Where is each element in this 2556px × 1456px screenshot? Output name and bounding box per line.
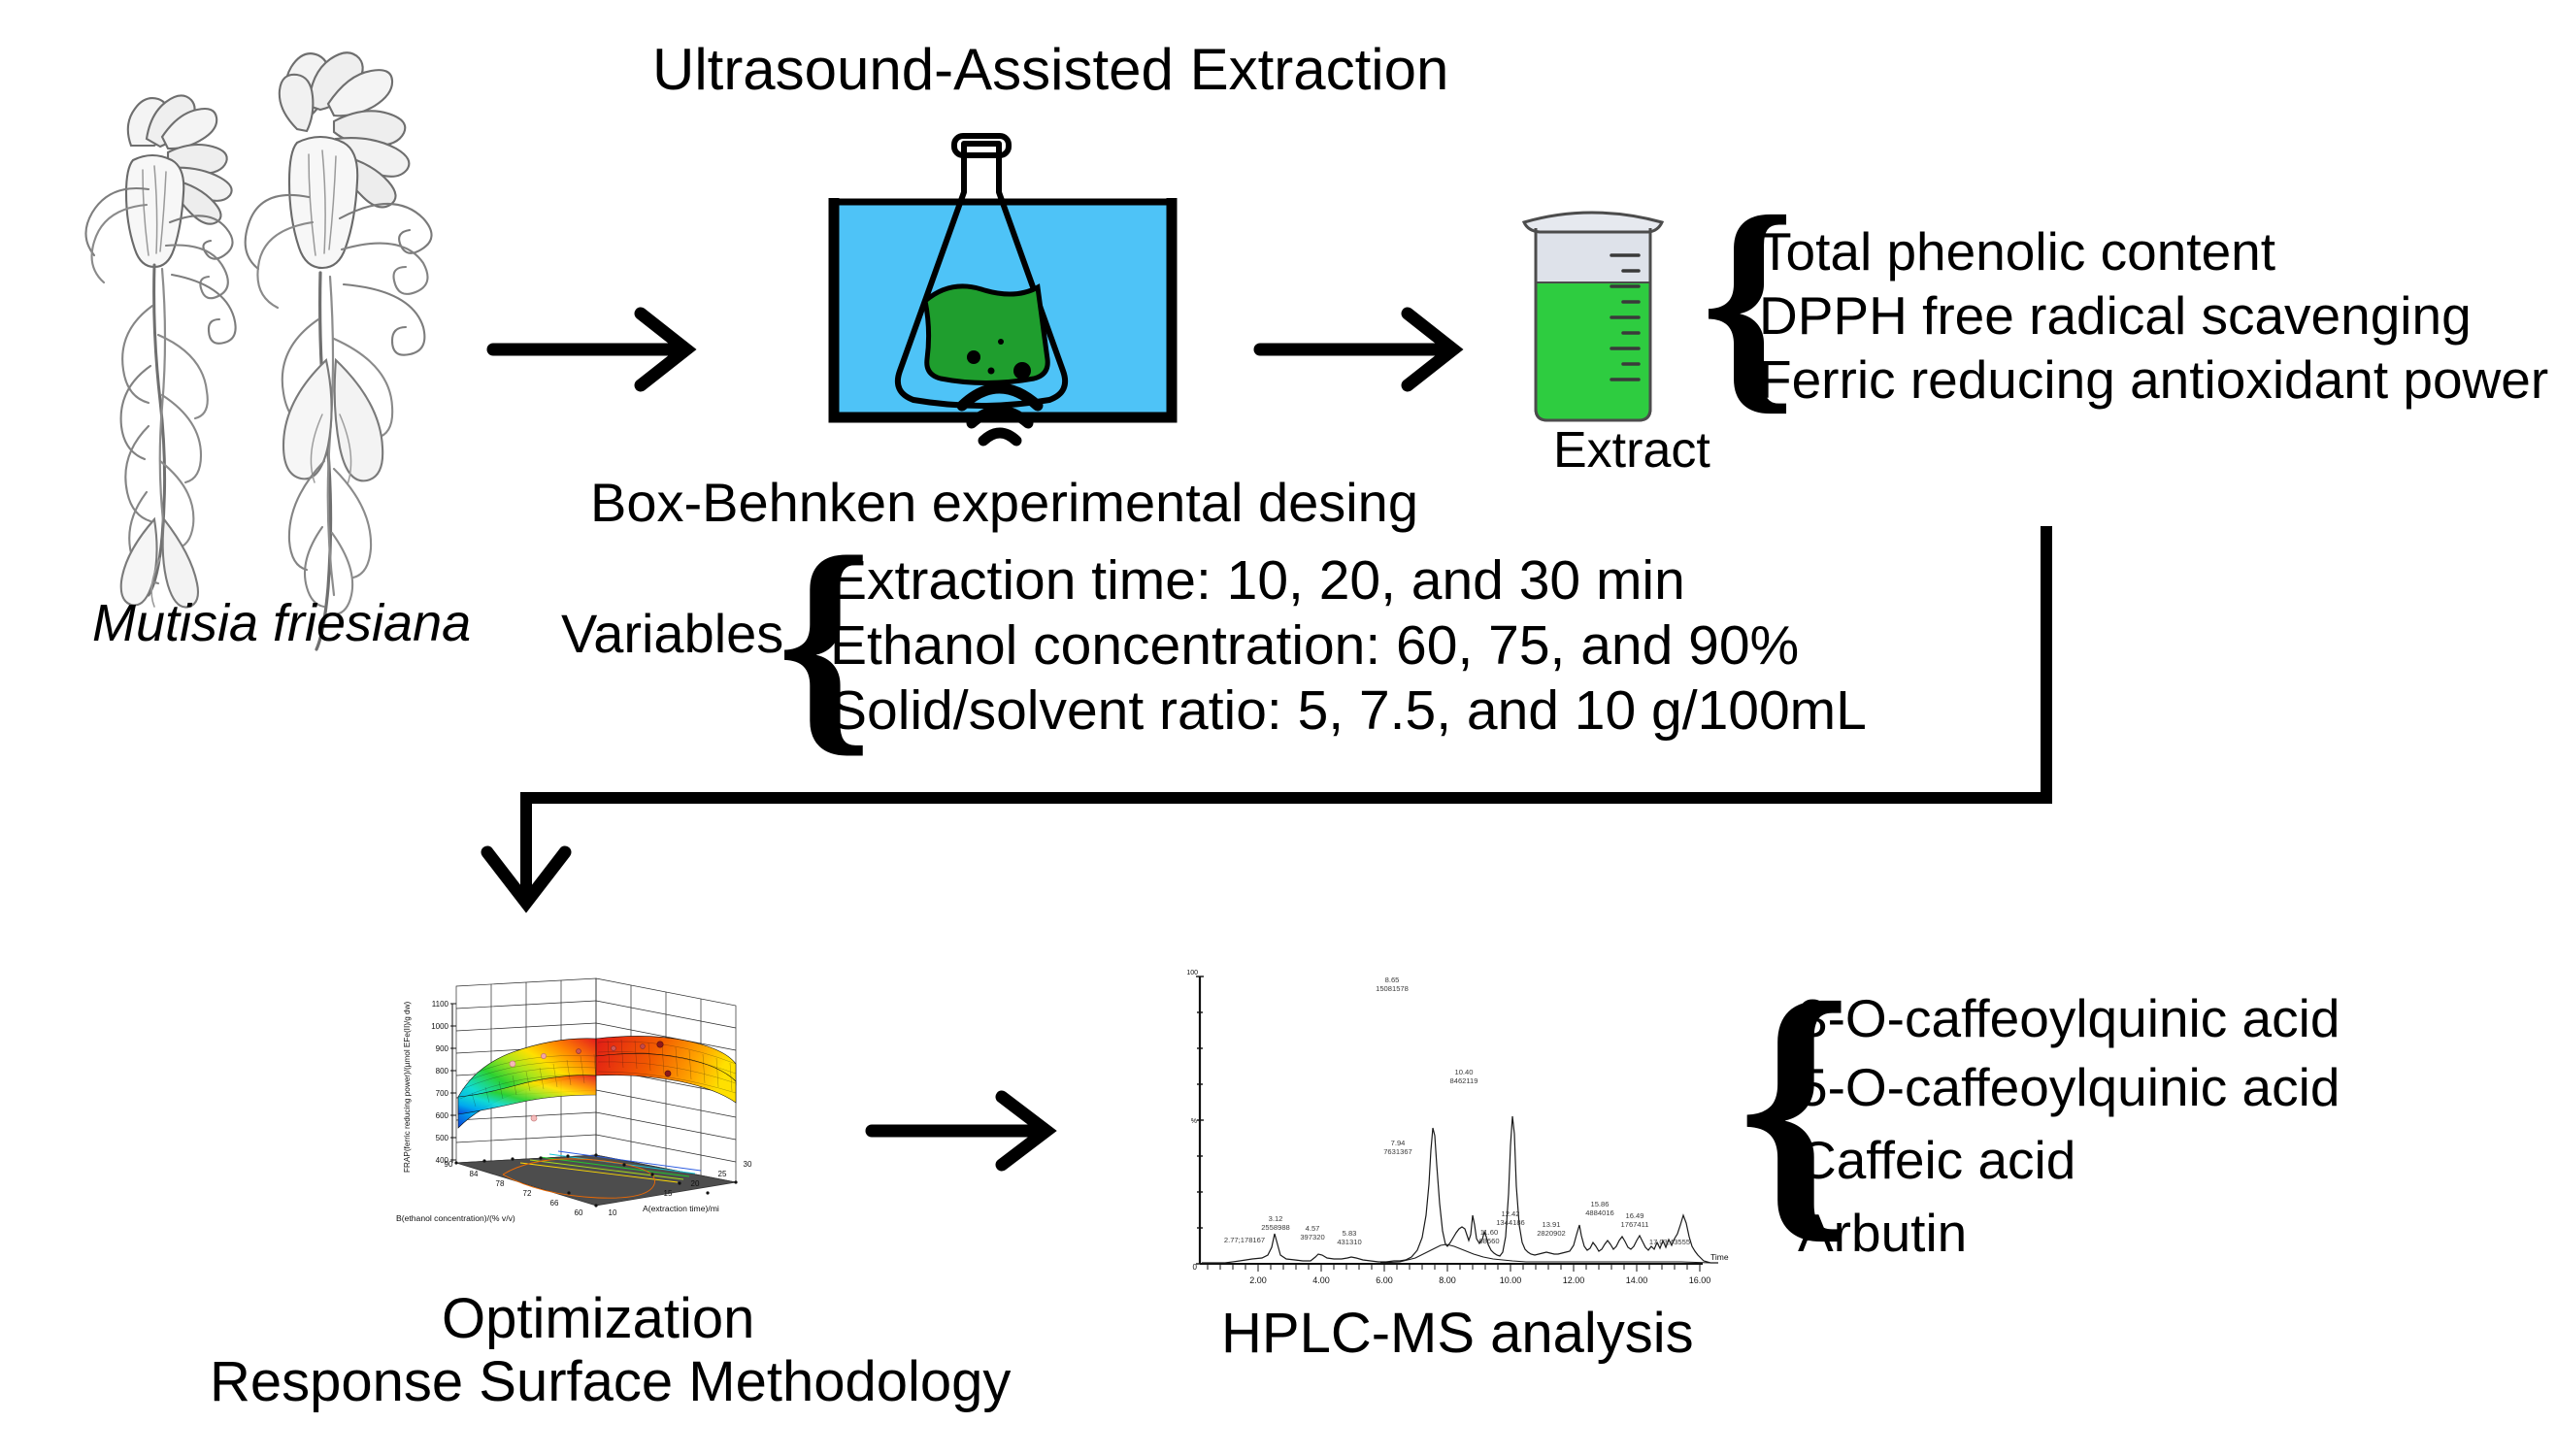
surface-xlabel-text: A(extraction time)/mi [643,1204,719,1213]
svg-text:30: 30 [744,1160,752,1169]
surface-zlabel-text: FRAP(ferric reducing power)/(µmol EFe(II… [403,1001,412,1173]
svg-text:2820902: 2820902 [1537,1229,1566,1238]
hplc-chromatogram-plot: 100 % 0 [1186,961,1730,1301]
svg-text:1100: 1100 [432,1000,449,1009]
svg-text:16.00: 16.00 [1689,1275,1711,1285]
svg-text:%: % [1191,1118,1197,1125]
svg-text:78: 78 [496,1179,505,1188]
svg-text:84: 84 [470,1170,479,1178]
svg-text:66: 66 [550,1199,559,1208]
svg-text:900: 900 [436,1044,449,1053]
arrow-plant-to-extraction [485,296,709,403]
flow-connector-elbow [505,514,2077,932]
compound-item: 3-O-caffeoylquinic acid [1798,992,2340,1045]
svg-text:800: 800 [436,1067,449,1075]
svg-text:4.00: 4.00 [1312,1275,1330,1285]
svg-text:10.40: 10.40 [1454,1068,1473,1076]
svg-text:72: 72 [523,1189,532,1198]
svg-text:8462119: 8462119 [1450,1076,1478,1085]
svg-text:0: 0 [1193,1263,1198,1272]
svg-text:1344186: 1344186 [1496,1218,1525,1227]
hplc-caption: HPLC-MS analysis [1221,1306,1694,1362]
species-name: Mutisia friesiana [92,597,471,649]
svg-text:15081578: 15081578 [1376,984,1409,993]
assay-item: Total phenolic content [1759,225,2548,279]
compounds-list: 3-O-caffeoylquinic acid 5-O-caffeoylquin… [1798,992,2340,1260]
svg-text:7631367: 7631367 [1383,1147,1412,1156]
plant-illustration [39,15,476,597]
response-surface-plot: 1100 1000 900 800 700 600 500 400 [388,961,796,1301]
svg-text:20: 20 [691,1179,700,1188]
compound-item: Caffeic acid [1798,1134,2340,1187]
graphical-abstract: Mutisia friesiana Ultrasound-Assisted Ex… [0,0,2556,1456]
svg-text:397320: 397320 [1300,1233,1324,1241]
svg-text:68660: 68660 [1478,1237,1499,1245]
svg-text:Time: Time [1710,1252,1729,1262]
svg-text:11.60: 11.60 [1480,1228,1498,1237]
svg-text:2558988: 2558988 [1261,1223,1290,1232]
svg-text:4.57: 4.57 [1306,1224,1320,1233]
ultrasonic-bath-icon [820,126,1228,476]
svg-text:12.42: 12.42 [1501,1209,1519,1218]
svg-text:8.65: 8.65 [1385,976,1400,984]
compound-item: 5-O-caffeoylquinic acid [1798,1061,2340,1114]
extract-label: Extract [1553,425,1710,476]
svg-text:700: 700 [436,1089,449,1098]
optimization-caption-line2: Response Surface Methodology [210,1354,1011,1410]
svg-text:15.86: 15.86 [1590,1200,1609,1208]
svg-text:10.00: 10.00 [1500,1275,1522,1285]
svg-text:7.94: 7.94 [1391,1139,1406,1147]
svg-text:17.03;43555: 17.03;43555 [1649,1238,1690,1246]
svg-text:15: 15 [664,1189,673,1198]
svg-text:8.00: 8.00 [1439,1275,1456,1285]
extract-beaker-icon [1514,199,1689,432]
svg-text:10: 10 [609,1208,617,1217]
svg-text:5.83: 5.83 [1343,1229,1357,1238]
svg-text:6.00: 6.00 [1376,1275,1393,1285]
svg-text:1000: 1000 [431,1022,448,1031]
svg-text:2.00: 2.00 [1249,1275,1267,1285]
svg-text:13.91: 13.91 [1542,1220,1560,1229]
svg-text:3.12: 3.12 [1269,1214,1283,1223]
svg-text:60: 60 [575,1208,583,1217]
extraction-title: Ultrasound-Assisted Extraction [652,41,1448,99]
assays-list: Total phenolic content DPPH free radical… [1759,225,2548,407]
svg-text:4884016: 4884016 [1585,1208,1614,1217]
svg-text:16.49: 16.49 [1625,1211,1643,1220]
svg-text:1767411: 1767411 [1621,1220,1649,1229]
assay-item: DPPH free radical scavenging [1759,289,2548,343]
assay-item: Ferric reducing antioxidant power [1759,353,2548,407]
svg-text:600: 600 [436,1111,449,1120]
svg-text:100: 100 [1186,970,1198,976]
optimization-caption-line1: Optimization [442,1291,754,1347]
svg-text:2.77;178167: 2.77;178167 [1224,1236,1265,1244]
svg-text:90: 90 [445,1160,453,1169]
surface-ylabel-text: B(ethanol concentration)/(% v/v) [396,1213,515,1223]
svg-text:25: 25 [718,1170,727,1178]
svg-text:431310: 431310 [1337,1238,1361,1246]
svg-text:500: 500 [436,1134,449,1142]
svg-text:12.00: 12.00 [1563,1275,1585,1285]
compound-item: Arbutin [1798,1207,2340,1260]
arrow-extraction-to-extract [1252,296,1476,403]
svg-text:14.00: 14.00 [1626,1275,1648,1285]
arrow-rsm-to-hplc [864,1077,1068,1184]
